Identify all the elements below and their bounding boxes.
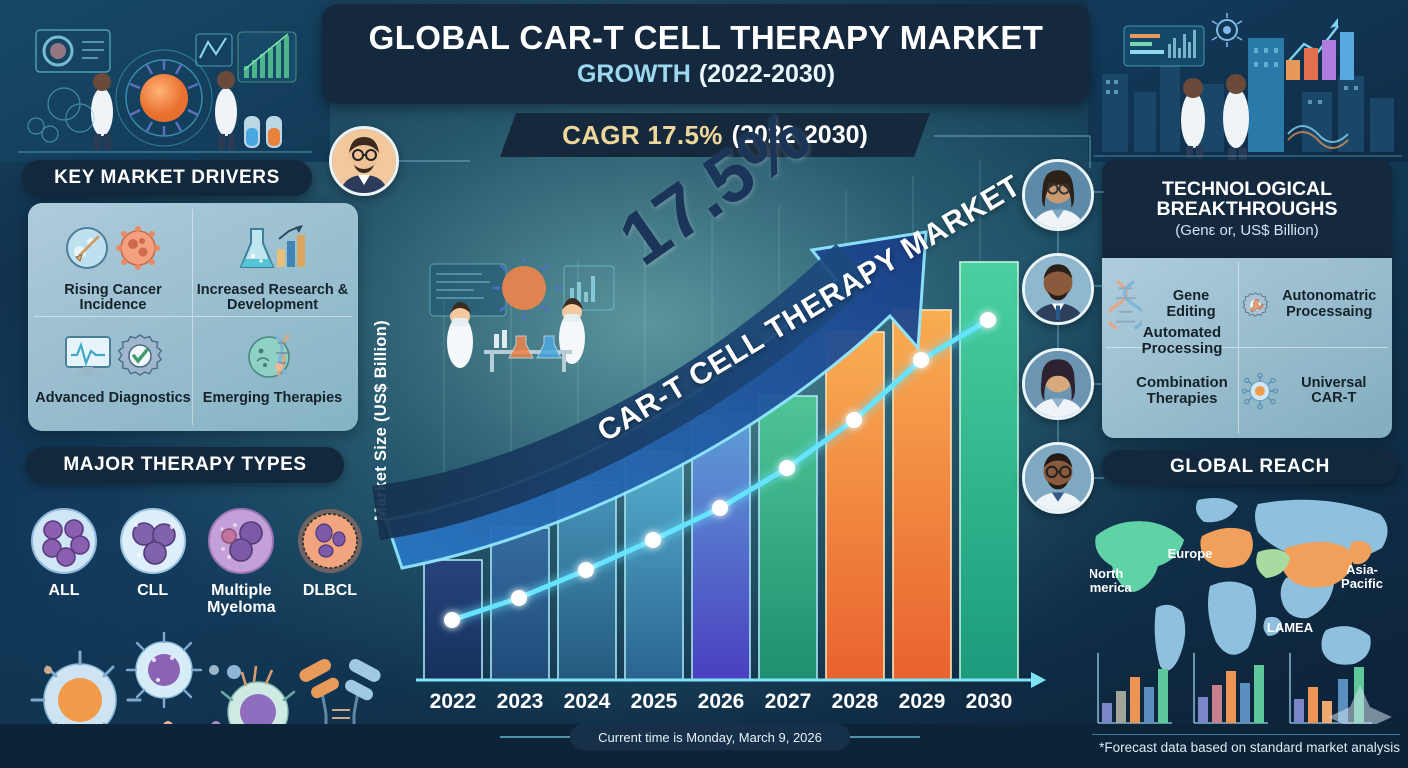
footnote-rule [1092, 734, 1400, 735]
tech-heading-line1: TECHNOLOGICAL [1162, 179, 1332, 199]
header-banner: GLOBAL CAR-T CELL THERAPY MARKET GROWTH … [322, 4, 1090, 104]
therapy-label: Multiple Myeloma [199, 583, 283, 616]
major-therapy-types-heading: MAJOR THERAPY TYPES [26, 447, 344, 483]
footnote-disclaimer: *Forecast data based on standard market … [1099, 740, 1400, 755]
map-label-north-america: North [1090, 566, 1123, 581]
driver-item-rising-cancer-incidence[interactable]: Rising Cancer Incidence [34, 209, 193, 317]
avatar-clinician-3 [1022, 348, 1094, 420]
current-time-badge: Current time is Monday, March 9, 2026 [570, 724, 850, 750]
key-market-drivers-heading: KEY MARKET DRIVERS [22, 160, 312, 196]
flask-bar-chart-icon [237, 217, 309, 279]
cell-cluster-blue-icon [28, 505, 100, 577]
driver-label: Increased Research & Development [193, 283, 352, 314]
tech-label-automated-processing: Automated Processing [1112, 325, 1252, 357]
x-tick-2029: 2029 [893, 690, 951, 714]
therapy-label: CLL [137, 583, 168, 600]
tech-item-automatic-processing[interactable]: Autonomatric Processaing [1239, 262, 1388, 348]
therapy-types-row: ALL CLL Multiple Myeloma [22, 505, 372, 625]
tech-heading-line2: BREAKTHROUGHS [1157, 199, 1338, 219]
city-biotech-illustration [1088, 0, 1408, 162]
x-tick-2022: 2022 [424, 690, 482, 714]
petri-dish-cancer-cell-icon [64, 217, 162, 279]
x-tick-2028: 2028 [826, 690, 884, 714]
map-label-asia-pacific-2: Pacific [1341, 576, 1383, 591]
monitor-ecg-gear-check-icon [63, 325, 163, 387]
bar-2028 [826, 332, 884, 680]
page-title: GLOBAL CAR-T CELL THERAPY MARKET [369, 19, 1044, 57]
therapy-type-multiple-myeloma[interactable]: Multiple Myeloma [199, 505, 283, 625]
tech-label: Autonomatric Processaing [1273, 289, 1385, 320]
subtitle-years: (2022-2030) [699, 60, 835, 89]
technological-breakthroughs-header: TECHNOLOGICAL BREAKTHROUGHS (Genε or, US… [1102, 160, 1392, 258]
x-tick-2027: 2027 [759, 690, 817, 714]
tech-label: Gene Editing [1147, 289, 1234, 320]
avatar-clinician-1 [1022, 159, 1094, 231]
footer-rule-left [500, 736, 570, 738]
page-subtitle: GROWTH (2022-2030) [577, 60, 835, 89]
map-label-lamea: LAMEA [1267, 620, 1314, 635]
x-tick-2024: 2024 [558, 690, 616, 714]
therapy-type-dlbcl[interactable]: DLBCL [288, 505, 372, 625]
regional-mini-bar-charts [1090, 645, 1408, 733]
lab-scene-illustration [424, 258, 624, 378]
subtitle-growth: GROWTH [577, 60, 691, 89]
map-label-asia-pacific: Asia- [1346, 562, 1378, 577]
x-axis-arrow-icon [1031, 672, 1046, 688]
x-tick-2030: 2030 [960, 690, 1018, 714]
tech-label: Universal CAR-T [1283, 376, 1385, 407]
cell-cluster-light-icon [117, 505, 189, 577]
mini-chart-2 [1194, 653, 1268, 723]
avatar-clinician-2 [1022, 253, 1094, 325]
map-label-north-america-2: America [1090, 580, 1132, 595]
therapy-label: ALL [48, 583, 79, 600]
bar-2027 [759, 396, 817, 680]
cell-cluster-purple-icon [205, 505, 277, 577]
driver-item-advanced-diagnostics[interactable]: Advanced Diagnostics [34, 317, 193, 425]
driver-label: Advanced Diagnostics [35, 391, 191, 406]
x-tick-2025: 2025 [625, 690, 683, 714]
x-tick-2026: 2026 [692, 690, 750, 714]
lab-research-illustration [0, 0, 330, 162]
tech-label-combination-therapies: Combination Therapies [1112, 375, 1252, 407]
therapy-type-all[interactable]: ALL [22, 505, 106, 625]
mini-chart-1 [1098, 653, 1172, 723]
therapy-label: DLBCL [303, 583, 357, 600]
global-reach-heading: GLOBAL REACH [1102, 450, 1398, 484]
dna-petri-dish-icon [245, 325, 301, 387]
key-market-drivers-panel: Rising Cancer Incidence Increased Resear… [28, 203, 358, 431]
cell-cluster-orange-icon [294, 505, 366, 577]
gear-wrench-icon [1242, 283, 1269, 327]
tech-item-universal-car-t[interactable]: Universal CAR-T [1239, 348, 1388, 434]
driver-label: Rising Cancer Incidence [34, 283, 192, 314]
driver-label: Emerging Therapies [203, 391, 342, 406]
driver-item-increased-research[interactable]: Increased Research & Development [193, 209, 352, 317]
tech-subheading: (Genε or, US$ Billion) [1175, 222, 1318, 239]
dna-helix-icon [1109, 279, 1142, 331]
therapy-type-cll[interactable]: CLL [111, 505, 195, 625]
x-tick-2023: 2023 [491, 690, 549, 714]
driver-item-emerging-therapies[interactable]: Emerging Therapies [193, 317, 352, 425]
map-label-europe: Europe [1168, 546, 1213, 561]
infographic-canvas: GLOBAL CAR-T CELL THERAPY MARKET GROWTH … [0, 0, 1408, 768]
footer-rule-right [850, 736, 920, 738]
avatar-clinician-4 [1022, 442, 1094, 514]
